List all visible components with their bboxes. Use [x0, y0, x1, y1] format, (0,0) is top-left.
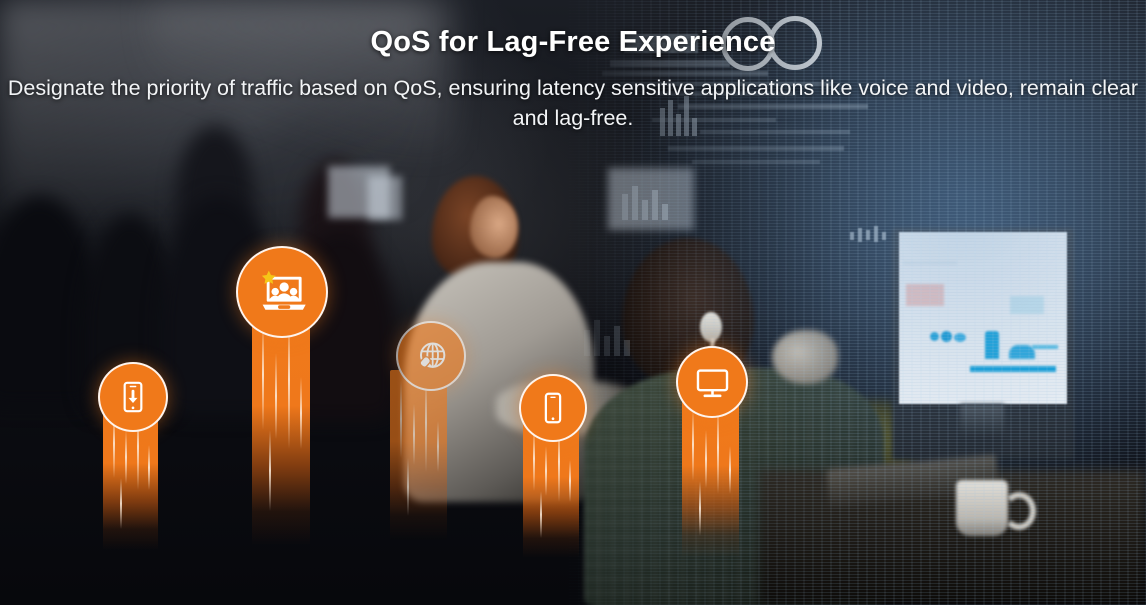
- desktop-monitor-icon: [692, 362, 733, 403]
- qos-icon-badge-desktop[interactable]: [676, 346, 748, 418]
- bar-light-streak: [699, 481, 701, 535]
- bar-light-streak: [692, 408, 694, 482]
- bar-light-streak: [705, 430, 707, 488]
- qos-traffic-bar: [682, 398, 739, 558]
- bar-light-streak: [729, 446, 731, 494]
- qos-priority-item[interactable]: [0, 0, 1146, 605]
- qos-banner: QoS for Lag-Free Experience Designate th…: [0, 0, 1146, 605]
